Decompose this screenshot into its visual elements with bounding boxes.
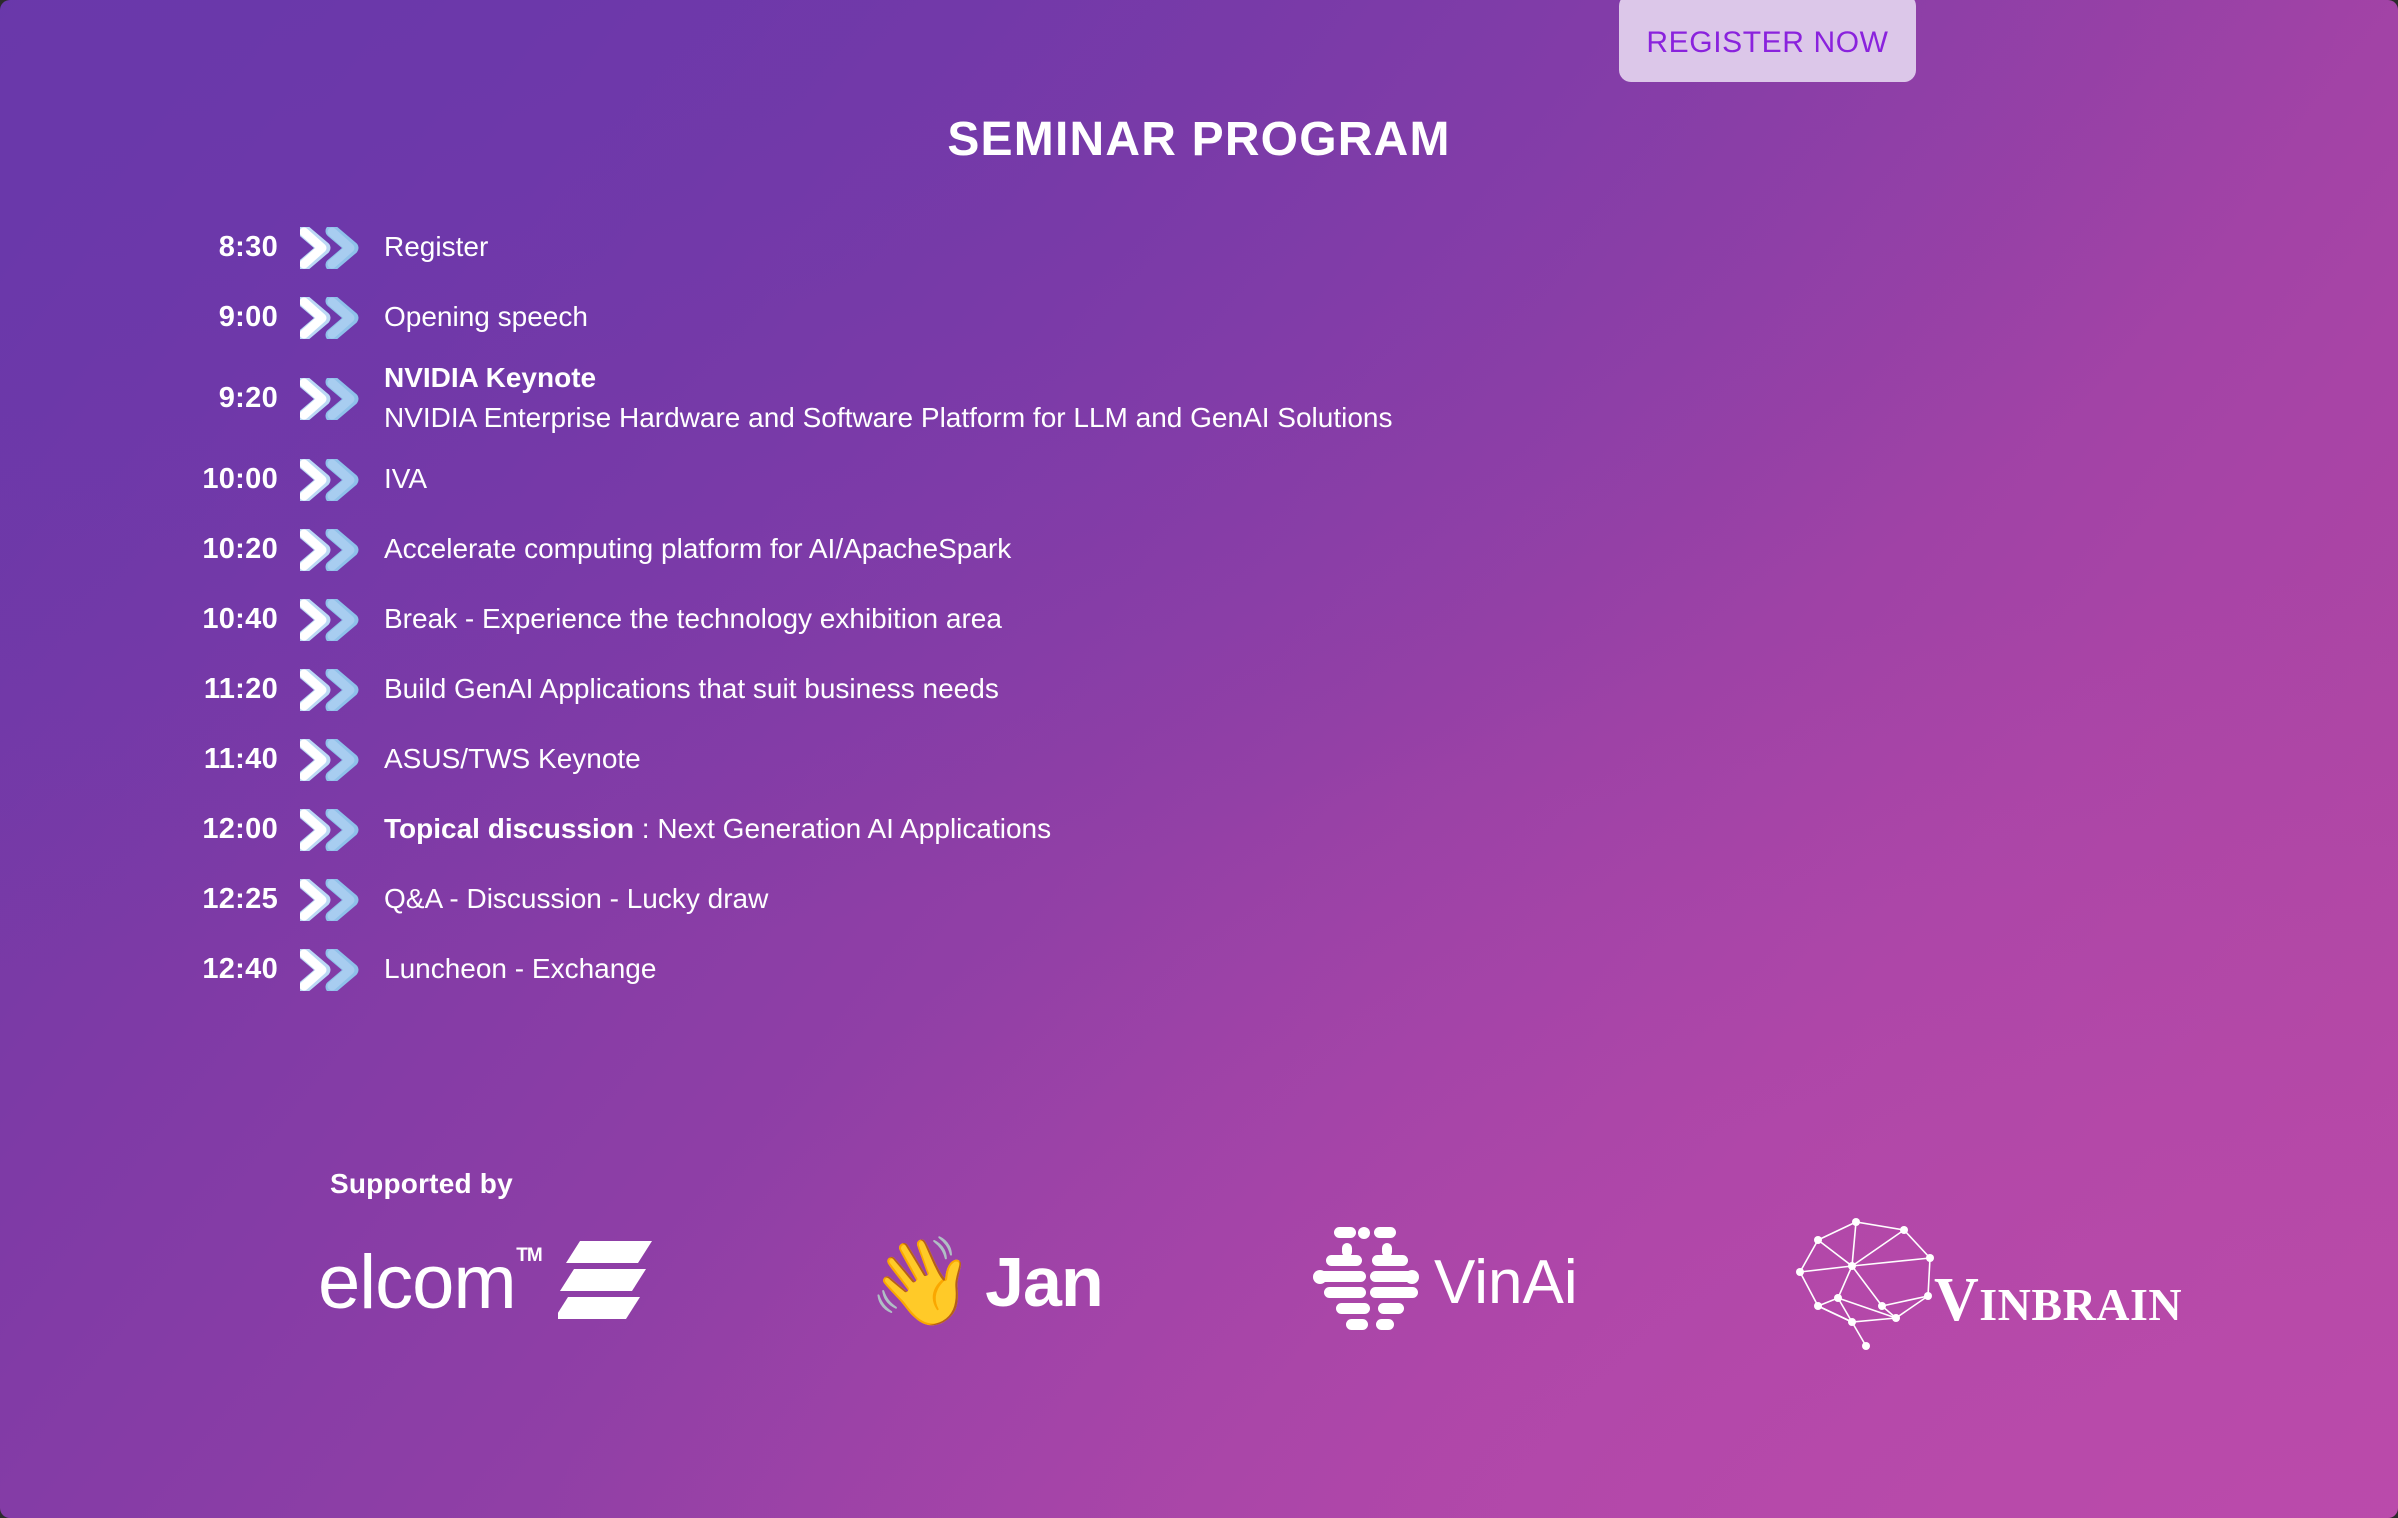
schedule-subtitle: NVIDIA Enterprise Hardware and Software … [384,398,2398,438]
schedule-title: Build GenAI Applications that suit busin… [384,673,999,704]
supported-by-label: Supported by [330,1168,513,1200]
schedule-row: 9:20NVIDIA KeynoteNVIDIA Enterprise Hard… [0,352,2398,444]
schedule-title: Luncheon - Exchange [384,953,656,984]
jan-wordmark: Jan [985,1242,1103,1322]
double-chevron-icon [300,297,372,337]
schedule-time: 9:20 [0,382,300,415]
schedule-title: Break - Experience the technology exhibi… [384,603,1002,634]
schedule-entry: ASUS/TWS Keynote [372,739,2398,779]
double-chevron-icon [300,529,372,569]
schedule-time: 10:00 [0,463,300,496]
schedule-time: 9:00 [0,301,300,334]
supporter-logos: elcom TM 👋 Jan [300,1212,2200,1352]
schedule-entry: NVIDIA KeynoteNVIDIA Enterprise Hardware… [372,358,2398,438]
logo-elcom: elcom TM [300,1212,838,1352]
schedule-title: Opening speech [384,301,588,332]
seminar-program-slide: REGISTER NOW SEMINAR PROGRAM 8:30Registe… [0,0,2398,1518]
double-chevron-icon [300,879,372,919]
schedule-row: 12:25Q&A - Discussion - Lucky draw [0,864,2398,934]
schedule-list: 8:30Register9:00Opening speech9:20NVIDIA… [0,212,2398,1004]
schedule-row: 11:40ASUS/TWS Keynote [0,724,2398,794]
schedule-row: 10:00IVA [0,444,2398,514]
schedule-entry: Q&A - Discussion - Lucky draw [372,879,2398,919]
schedule-title-suffix: : Next Generation AI Applications [634,813,1051,844]
vinai-wordmark: VinAi [1434,1247,1578,1318]
schedule-title: NVIDIA Keynote [384,362,596,393]
schedule-time: 12:00 [0,813,300,846]
logo-vinai: VinAi [1288,1212,1768,1352]
schedule-entry: Break - Experience the technology exhibi… [372,599,2398,639]
schedule-row: 10:20Accelerate computing platform for A… [0,514,2398,584]
schedule-time: 12:40 [0,953,300,986]
elcom-wordmark: elcom TM [318,1239,516,1326]
schedule-title: Q&A - Discussion - Lucky draw [384,883,768,914]
double-chevron-icon [300,378,372,418]
elcom-text: elcom [318,1240,516,1325]
schedule-title: IVA [384,463,427,494]
double-chevron-icon [300,669,372,709]
logo-jan: 👋 Jan [838,1212,1288,1352]
vinbrain-wordmark: VINBRAIN [1934,1265,2182,1336]
waving-hand-icon: 👋 [868,1239,975,1325]
schedule-entry: Luncheon - Exchange [372,949,2398,989]
schedule-time: 10:20 [0,533,300,566]
schedule-entry: Build GenAI Applications that suit busin… [372,669,2398,709]
elcom-e-mark-icon [558,1239,654,1326]
schedule-entry: Topical discussion : Next Generation AI … [372,809,2398,849]
schedule-row: 12:00Topical discussion : Next Generatio… [0,794,2398,864]
schedule-title: Register [384,231,488,262]
register-now-button[interactable]: REGISTER NOW [1619,0,1916,82]
page-title: SEMINAR PROGRAM [0,112,2398,167]
double-chevron-icon [300,227,372,267]
double-chevron-icon [300,949,372,989]
schedule-time: 11:40 [0,743,300,776]
schedule-row: 10:40Break - Experience the technology e… [0,584,2398,654]
schedule-title: Accelerate computing platform for AI/Apa… [384,533,1011,564]
vinbrain-cap: V [1934,1266,1979,1334]
trademark-icon: TM [516,1245,541,1267]
double-chevron-icon [300,739,372,779]
schedule-row: 12:40Luncheon - Exchange [0,934,2398,1004]
schedule-title: Topical discussion [384,813,634,844]
schedule-time: 12:25 [0,883,300,916]
schedule-entry: IVA [372,459,2398,499]
vinbrain-rest: INBRAIN [1979,1279,2182,1330]
vinai-circuit-icon [1308,1221,1426,1344]
schedule-row: 9:00Opening speech [0,282,2398,352]
schedule-row: 8:30Register [0,212,2398,282]
schedule-entry: Accelerate computing platform for AI/Apa… [372,529,2398,569]
schedule-title: ASUS/TWS Keynote [384,743,641,774]
schedule-entry: Opening speech [372,297,2398,337]
schedule-row: 11:20Build GenAI Applications that suit … [0,654,2398,724]
logo-vinbrain: VINBRAIN [1768,1212,2218,1352]
double-chevron-icon [300,459,372,499]
schedule-time: 10:40 [0,603,300,636]
schedule-time: 8:30 [0,231,300,264]
double-chevron-icon [300,599,372,639]
schedule-time: 11:20 [0,673,300,706]
double-chevron-icon [300,809,372,849]
schedule-entry: Register [372,227,2398,267]
